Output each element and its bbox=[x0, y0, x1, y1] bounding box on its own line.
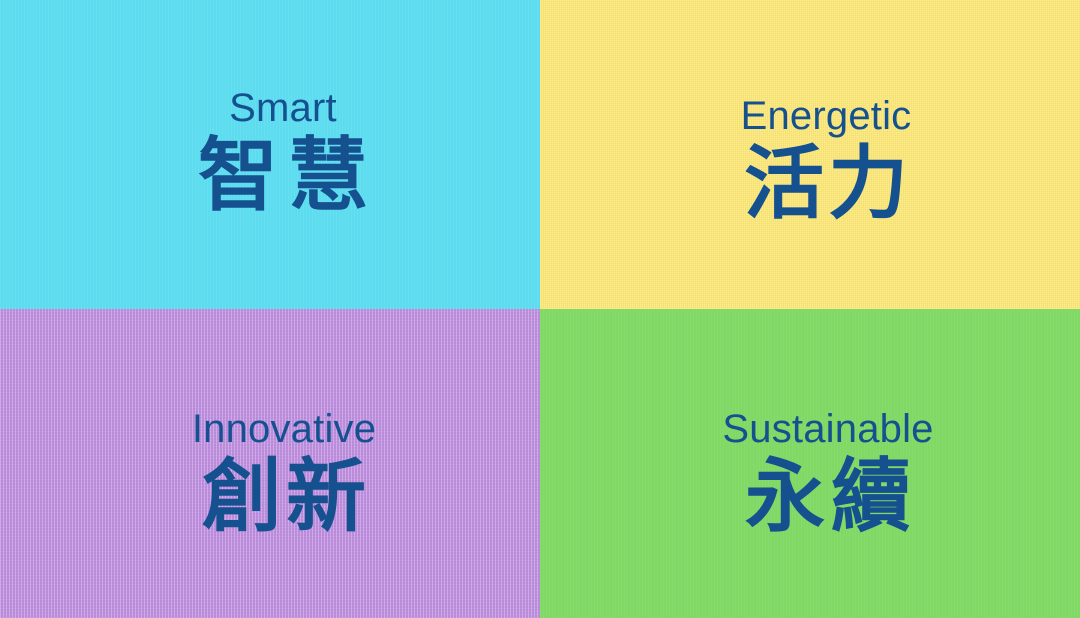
brand-values-poster: Smart 智慧 Energetic 活力 Innovative 創新 Sust… bbox=[0, 0, 1080, 618]
panel-energetic-label-en: Energetic bbox=[741, 96, 912, 136]
panel-innovative: Innovative 創新 bbox=[0, 309, 540, 618]
panel-innovative-text-block: Innovative 創新 bbox=[192, 409, 376, 537]
panel-sustainable-label-en: Sustainable bbox=[722, 409, 933, 449]
panel-sustainable-label-zh: 永續 bbox=[739, 457, 917, 537]
panel-energetic: Energetic 活力 bbox=[540, 0, 1080, 309]
panel-sustainable-text-block: Sustainable 永續 bbox=[722, 409, 933, 537]
panel-innovative-label-zh: 創新 bbox=[198, 457, 370, 537]
panel-energetic-text-block: Energetic 活力 bbox=[740, 96, 912, 224]
panel-smart: Smart 智慧 bbox=[0, 0, 540, 309]
panel-sustainable: Sustainable 永續 bbox=[540, 309, 1080, 618]
panel-smart-label-zh: 智慧 bbox=[188, 136, 378, 216]
panel-smart-text-block: Smart 智慧 bbox=[188, 88, 378, 216]
panel-smart-label-en: Smart bbox=[229, 88, 337, 128]
panel-innovative-label-en: Innovative bbox=[192, 409, 376, 449]
panel-energetic-label-zh: 活力 bbox=[740, 144, 912, 224]
